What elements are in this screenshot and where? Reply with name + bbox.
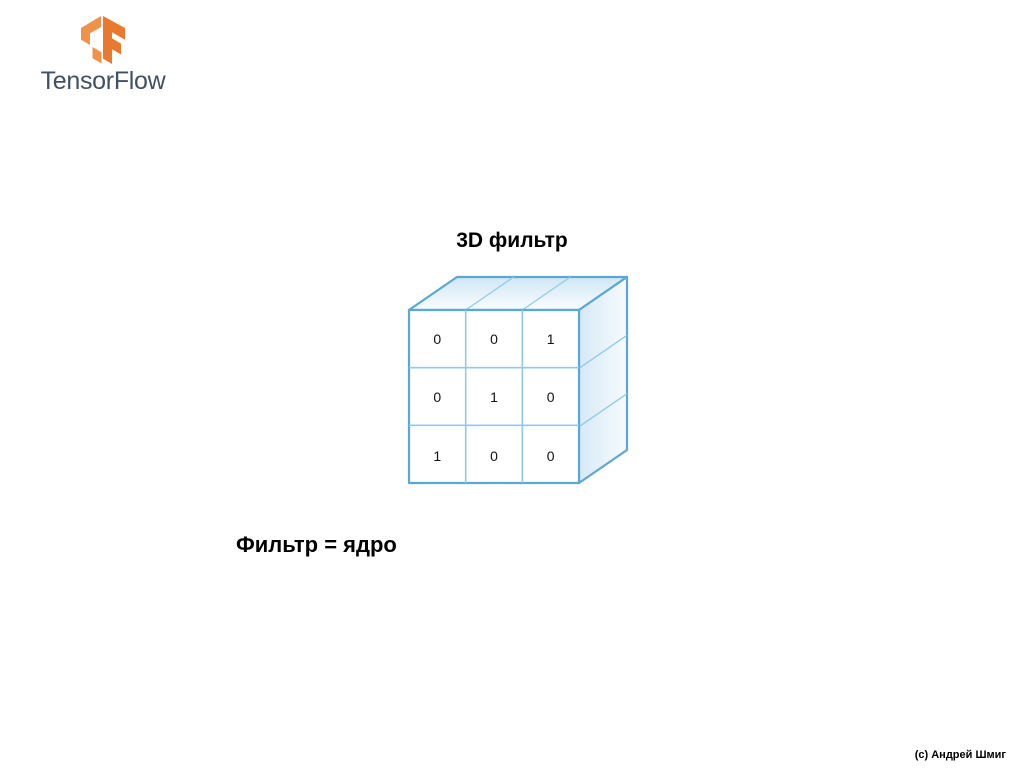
cube-front-face bbox=[409, 310, 579, 483]
copyright-notice: (c) Андрей Шмиг bbox=[915, 748, 1006, 762]
tensorflow-logo: TensorFlow bbox=[38, 16, 168, 96]
cube-svg bbox=[395, 265, 645, 500]
tensorflow-wordmark: TensorFlow bbox=[38, 66, 168, 96]
cube-right-face bbox=[579, 277, 627, 483]
3d-filter-cube: 0 0 1 0 1 0 1 0 0 bbox=[395, 265, 645, 500]
tensorflow-logo-icon bbox=[81, 16, 125, 64]
page-title: 3D фильтр bbox=[362, 228, 662, 254]
kernel-caption: Фильтр = ядро bbox=[236, 531, 397, 559]
slide-canvas: TensorFlow 3D фильтр bbox=[0, 0, 1024, 768]
